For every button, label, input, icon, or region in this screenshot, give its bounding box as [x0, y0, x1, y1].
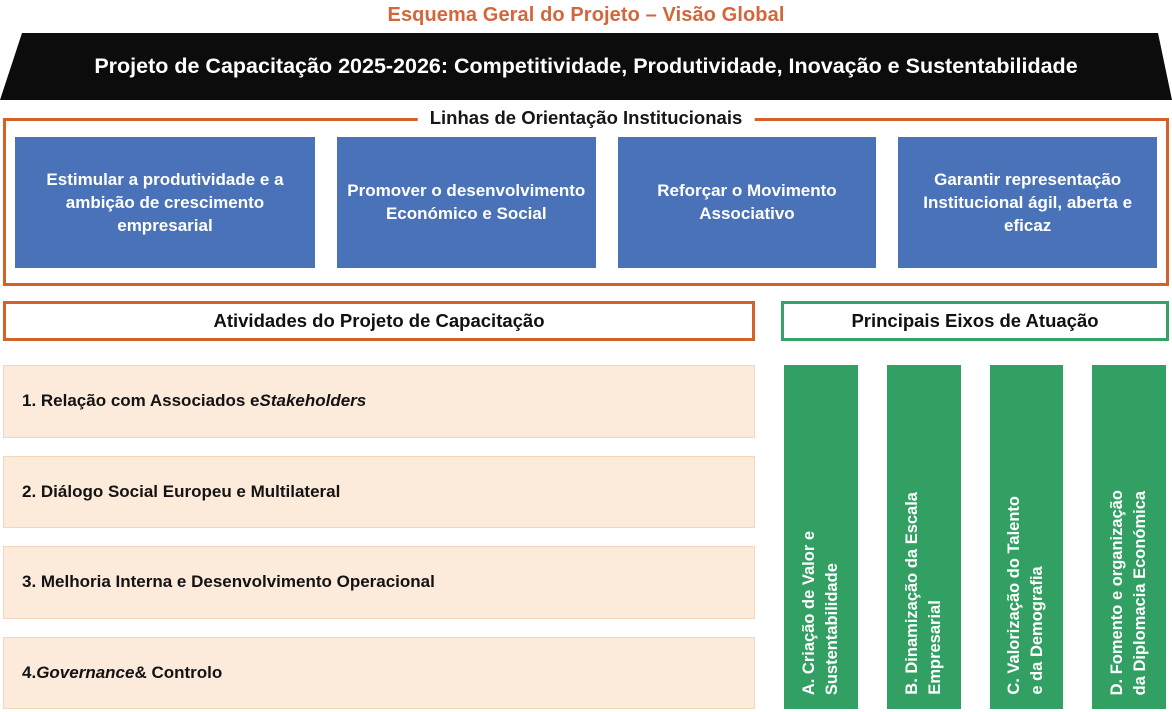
banner-title: Projeto de Capacitação 2025-2026: Compet… [0, 33, 1172, 100]
activity-row-4-suffix: & Controlo [134, 663, 222, 683]
activity-row-2-prefix: 2. Diálogo Social Europeu e Multilateral [22, 482, 340, 502]
activity-row[interactable]: 1. Relação com Associados e Stakeholders [3, 365, 755, 438]
orientation-card-3-label: Reforçar o Movimento Associativo [626, 179, 869, 225]
orientation-card-1[interactable]: Estimular a produtividade e a ambição de… [15, 137, 315, 268]
orientation-card-4[interactable]: Garantir representação Institucional ági… [898, 137, 1157, 268]
activity-row-1-prefix: 1. Relação com Associados e [22, 391, 259, 411]
orientation-card-2[interactable]: Promover o desenvolvimento Económico e S… [337, 137, 596, 268]
orientation-card-3[interactable]: Reforçar o Movimento Associativo [618, 137, 877, 268]
activities-section-header: Atividades do Projeto de Capacitação [3, 301, 755, 341]
activity-row-4-prefix: 4. [22, 663, 36, 683]
axis-column-d-inner: D. Fomento e organização da Diplomacia E… [1092, 365, 1166, 709]
activities-list: 1. Relação com Associados e Stakeholders… [3, 365, 755, 709]
orientation-card-1-label: Estimular a produtividade e a ambição de… [23, 168, 307, 237]
activities-section-header-label: Atividades do Projeto de Capacitação [213, 310, 544, 332]
activity-row[interactable]: 3. Melhoria Interna e Desenvolvimento Op… [3, 546, 755, 619]
axis-column-b[interactable]: B. Dinamização da Escala Empresarial [887, 365, 961, 709]
axis-column-a-inner: A. Criação de Valor e Sustentabilidade [784, 365, 858, 709]
axis-column-a-label: A. Criação de Valor e Sustentabilidade [798, 517, 844, 709]
axes-section-header-label: Principais Eixos de Atuação [851, 310, 1098, 332]
axes-section-header: Principais Eixos de Atuação [781, 301, 1169, 341]
diagram-canvas: Esquema Geral do Projeto – Visão Global … [0, 0, 1172, 712]
activity-row-4-emphasis: Governance [36, 663, 134, 683]
orientation-section: Linhas de Orientação Institucionais Esti… [3, 118, 1169, 286]
activity-row[interactable]: 2. Diálogo Social Europeu e Multilateral [3, 456, 755, 529]
axis-column-d-label: D. Fomento e organização da Diplomacia E… [1106, 476, 1152, 709]
axis-column-c[interactable]: C. Valorização do Talento e da Demografi… [990, 365, 1064, 709]
page-title: Esquema Geral do Projeto – Visão Global [0, 2, 1172, 28]
axis-column-c-label: C. Valorização do Talento e da Demografi… [1003, 482, 1049, 709]
orientation-card-4-label: Garantir representação Institucional ági… [906, 168, 1149, 237]
activity-row[interactable]: 4. Governance & Controlo [3, 637, 755, 710]
orientation-card-2-label: Promover o desenvolvimento Económico e S… [345, 179, 588, 225]
axes-columns: A. Criação de Valor e Sustentabilidade B… [784, 365, 1166, 709]
axis-column-c-inner: C. Valorização do Talento e da Demografi… [990, 365, 1064, 709]
axis-column-b-label: B. Dinamização da Escala Empresarial [901, 478, 947, 709]
orientation-card-row: Estimular a produtividade e a ambição de… [6, 121, 1166, 283]
activity-row-3-prefix: 3. Melhoria Interna e Desenvolvimento Op… [22, 572, 435, 592]
axis-column-b-inner: B. Dinamização da Escala Empresarial [887, 365, 961, 709]
axis-column-a[interactable]: A. Criação de Valor e Sustentabilidade [784, 365, 858, 709]
project-banner: Projeto de Capacitação 2025-2026: Compet… [0, 33, 1172, 100]
activity-row-1-emphasis: Stakeholders [259, 391, 366, 411]
axis-column-d[interactable]: D. Fomento e organização da Diplomacia E… [1092, 365, 1166, 709]
